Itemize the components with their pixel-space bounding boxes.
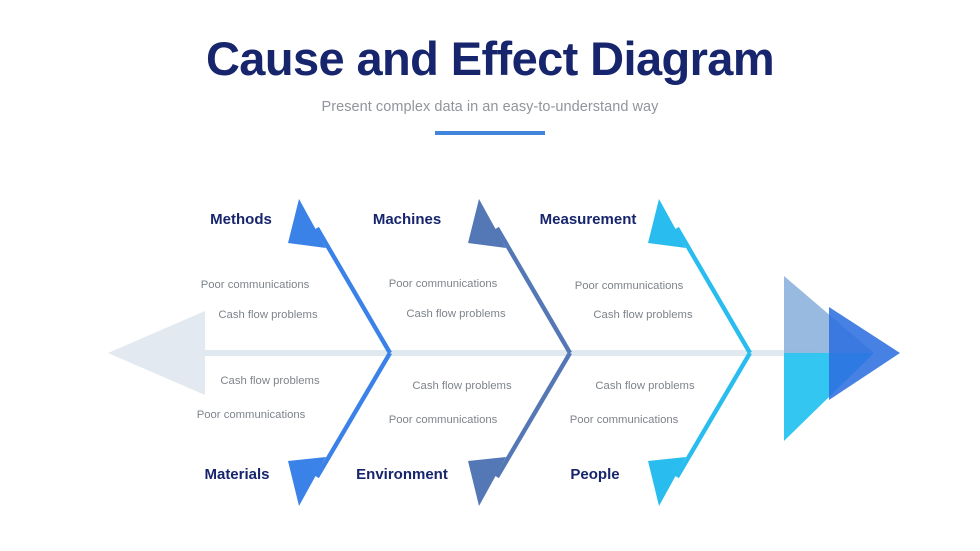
bone-line-machines: [497, 228, 570, 353]
spine-line: [120, 350, 820, 356]
tail-arrowhead: [108, 311, 205, 395]
bone-line-materials: [317, 353, 390, 477]
bone-arrowhead-machines: [468, 199, 506, 248]
bone-line-measurement: [677, 228, 750, 353]
slide-canvas: Cause and Effect Diagram Present complex…: [0, 0, 980, 551]
bone-arrowhead-people: [648, 457, 686, 506]
cause-text-materials-2[interactable]: Poor communications: [197, 409, 306, 421]
title-underline-rule: [435, 131, 545, 135]
cause-text-people-2[interactable]: Poor communications: [570, 414, 679, 426]
bone-methods-materials: [288, 199, 390, 506]
bone-measurement-people: [648, 199, 750, 506]
effect-triangle-top: [784, 276, 874, 353]
category-label-materials[interactable]: Materials: [204, 466, 269, 483]
cause-text-materials-1[interactable]: Cash flow problems: [220, 375, 319, 387]
category-label-measurement[interactable]: Measurement: [540, 211, 637, 228]
bone-line-environment: [497, 353, 570, 477]
cause-text-environment-2[interactable]: Poor communications: [389, 414, 498, 426]
bone-arrowhead-environment: [468, 457, 506, 506]
page-title: Cause and Effect Diagram: [0, 34, 980, 85]
bone-line-methods: [317, 228, 390, 353]
cause-text-machines-1[interactable]: Poor communications: [389, 278, 498, 290]
bone-arrowhead-measurement: [648, 199, 686, 248]
cause-text-methods-1[interactable]: Poor communications: [201, 279, 310, 291]
cause-text-machines-2[interactable]: Cash flow problems: [406, 308, 505, 320]
category-label-people[interactable]: People: [570, 466, 619, 483]
cause-text-people-1[interactable]: Cash flow problems: [595, 380, 694, 392]
effect-arrow-head: [784, 276, 900, 441]
cause-text-environment-1[interactable]: Cash flow problems: [412, 380, 511, 392]
effect-triangle-bottom: [784, 353, 874, 441]
category-label-machines[interactable]: Machines: [373, 211, 441, 228]
bone-machines-environment: [468, 199, 570, 506]
cause-text-measurement-1[interactable]: Poor communications: [575, 280, 684, 292]
cause-text-methods-2[interactable]: Cash flow problems: [218, 309, 317, 321]
bone-arrowhead-methods: [288, 199, 326, 248]
effect-triangle-right: [829, 307, 900, 400]
page-subtitle: Present complex data in an easy-to-under…: [0, 99, 980, 115]
bone-arrowhead-materials: [288, 457, 326, 506]
category-label-environment[interactable]: Environment: [356, 466, 448, 483]
cause-text-measurement-2[interactable]: Cash flow problems: [593, 309, 692, 321]
bone-line-people: [677, 353, 750, 477]
slide-header: Cause and Effect Diagram Present complex…: [0, 34, 980, 135]
category-label-methods[interactable]: Methods: [210, 211, 272, 228]
